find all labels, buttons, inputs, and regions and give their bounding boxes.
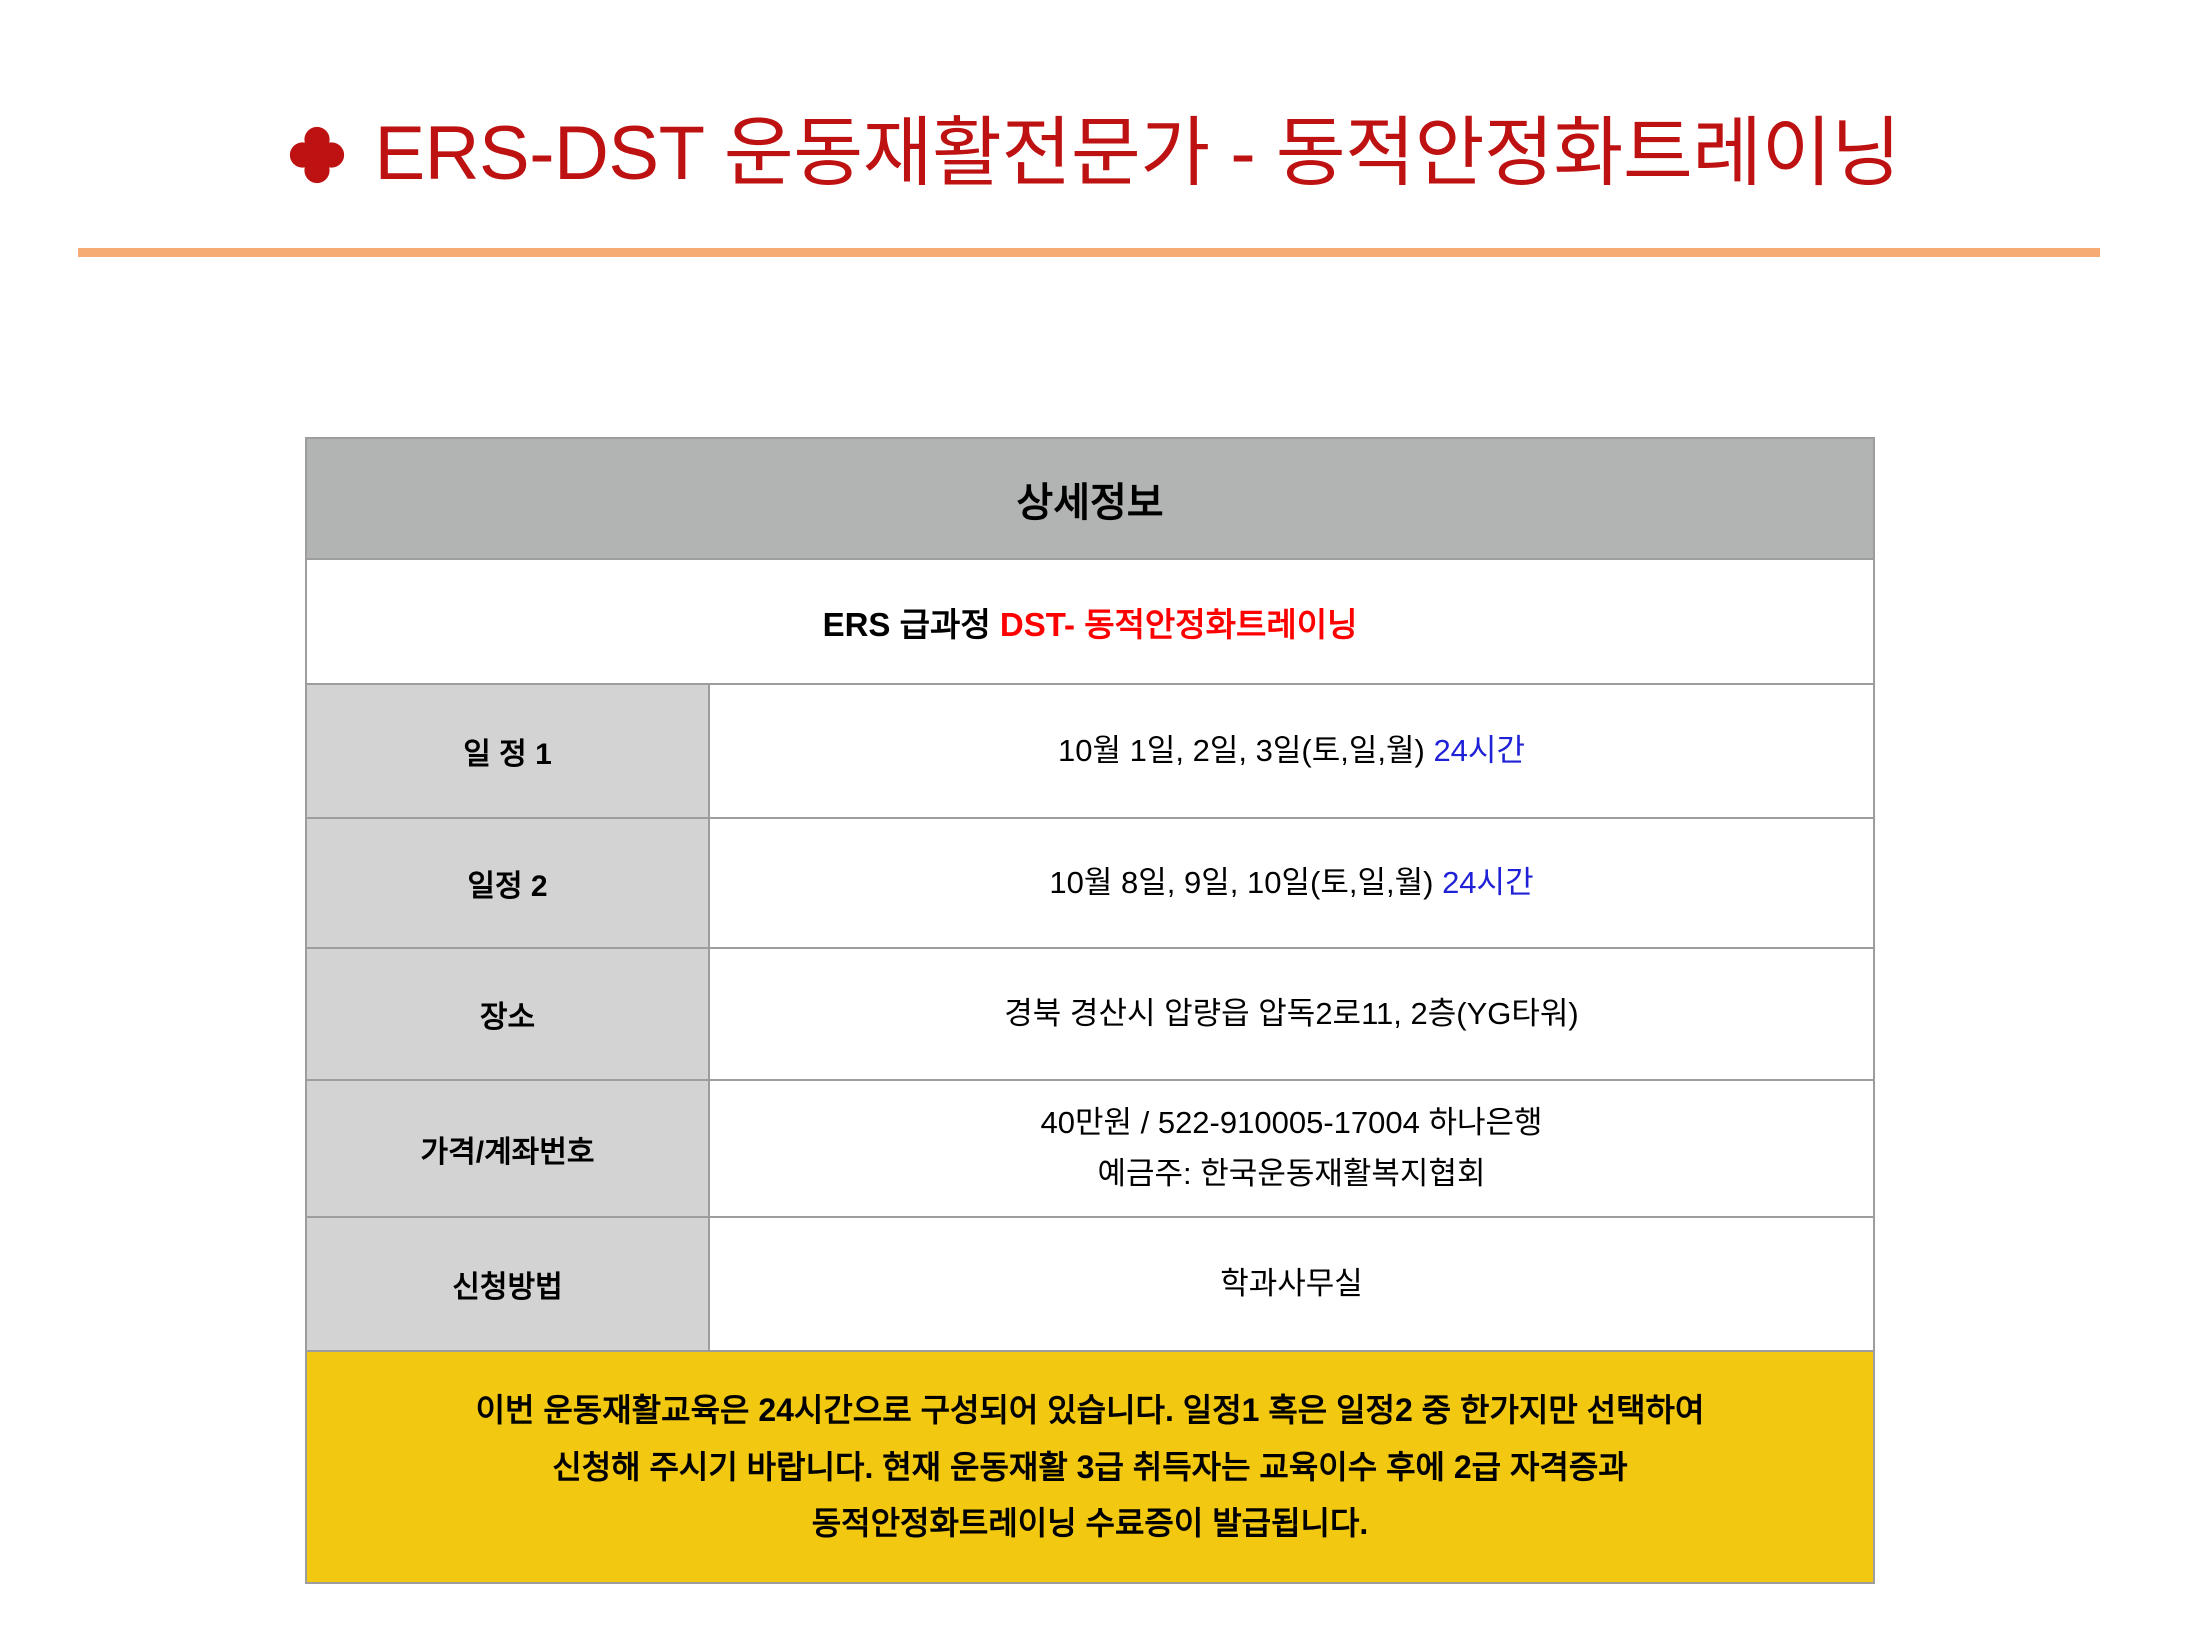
table-row: 신청방법 학과사무실 xyxy=(306,1217,1874,1351)
row-label-location: 장소 xyxy=(306,948,709,1080)
title-divider xyxy=(78,248,2100,257)
row-label-apply-method: 신청방법 xyxy=(306,1217,709,1351)
table-row: 일정 2 10월 8일, 9일, 10일(토,일,월) 24시간 xyxy=(306,818,1874,948)
table-row: 일 정 1 10월 1일, 2일, 3일(토,일,월) 24시간 xyxy=(306,684,1874,818)
page-title: ERS-DST 운동재활전문가 - 동적안정화트레이닝 xyxy=(374,113,1900,195)
table-header-title: 상세정보 xyxy=(306,438,1874,559)
schedule-2-dates: 10월 8일, 9일, 10일(토,일,월) xyxy=(1049,865,1442,900)
row-value-apply-method: 학과사무실 xyxy=(709,1217,1874,1351)
row-label-schedule-1: 일 정 1 xyxy=(306,684,709,818)
schedule-1-dates: 10월 1일, 2일, 3일(토,일,월) xyxy=(1058,733,1433,768)
row-value-location: 경북 경산시 압량읍 압독2로11, 2층(YG타워) xyxy=(709,948,1874,1080)
notice-line-1: 이번 운동재활교육은 24시간으로 구성되어 있습니다. 일정1 혹은 일정2 … xyxy=(307,1382,1873,1439)
schedule-2-hours: 24시간 xyxy=(1442,865,1534,900)
row-label-schedule-2: 일정 2 xyxy=(306,818,709,948)
table-row: 장소 경북 경산시 압량읍 압독2로11, 2층(YG타워) xyxy=(306,948,1874,1080)
notice-line-3: 동적안정화트레이닝 수료증이 발급됩니다. xyxy=(307,1495,1873,1552)
notice-banner: 이번 운동재활교육은 24시간으로 구성되어 있습니다. 일정1 혹은 일정2 … xyxy=(306,1351,1874,1583)
row-value-schedule-2: 10월 8일, 9일, 10일(토,일,월) 24시간 xyxy=(709,818,1874,948)
course-subtitle-prefix: ERS 급과정 xyxy=(823,606,1000,643)
row-label-price-account: 가격/계좌번호 xyxy=(306,1080,709,1217)
schedule-1-hours: 24시간 xyxy=(1433,733,1525,768)
price-account-line-1: 40만원 / 522-910005-17004 하나은행 xyxy=(710,1098,1873,1148)
table-row-subtitle: ERS 급과정 DST- 동적안정화트레이닝 xyxy=(306,559,1874,684)
course-subtitle: ERS 급과정 DST- 동적안정화트레이닝 xyxy=(306,559,1874,684)
table-row-header: 상세정보 xyxy=(306,438,1874,559)
price-account-line-2: 예금주: 한국운동재활복지협회 xyxy=(710,1149,1873,1199)
clover-bullet-icon xyxy=(286,123,348,185)
page-header: ERS-DST 운동재활전문가 - 동적안정화트레이닝 xyxy=(0,62,2187,246)
table-row-notice: 이번 운동재활교육은 24시간으로 구성되어 있습니다. 일정1 혹은 일정2 … xyxy=(306,1351,1874,1583)
row-value-price-account: 40만원 / 522-910005-17004 하나은행 예금주: 한국운동재활… xyxy=(709,1080,1874,1217)
course-subtitle-accent: DST- 동적안정화트레이닝 xyxy=(1000,606,1358,643)
detail-info-table: 상세정보 ERS 급과정 DST- 동적안정화트레이닝 일 정 1 10월 1일… xyxy=(305,437,1875,1584)
table-row: 가격/계좌번호 40만원 / 522-910005-17004 하나은행 예금주… xyxy=(306,1080,1874,1217)
notice-line-2: 신청해 주시기 바랍니다. 현재 운동재활 3급 취득자는 교육이수 후에 2급… xyxy=(307,1439,1873,1496)
row-value-schedule-1: 10월 1일, 2일, 3일(토,일,월) 24시간 xyxy=(709,684,1874,818)
